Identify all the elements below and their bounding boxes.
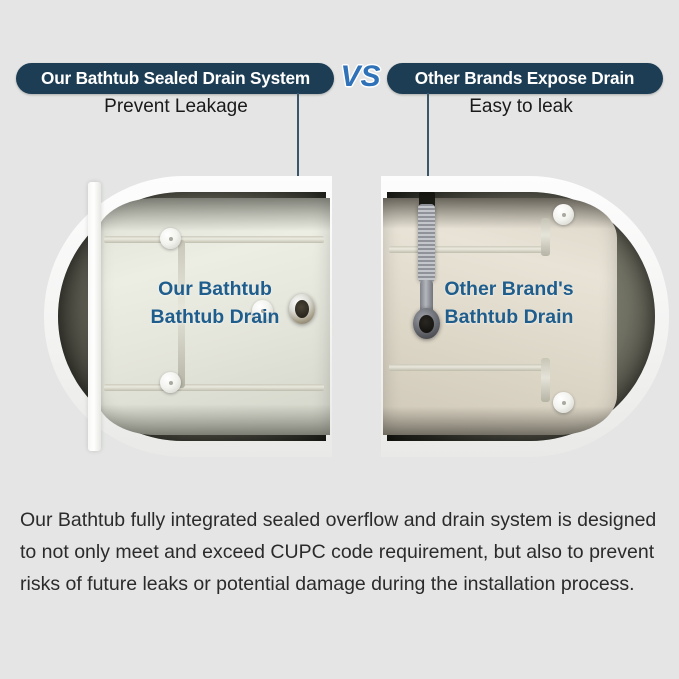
left-subtitle: Prevent Leakage — [60, 96, 292, 118]
pan-brace — [541, 218, 550, 256]
right-pill-label: Other Brands Expose Drain — [387, 63, 663, 94]
right-caption-line2: Bathtub Drain — [445, 306, 574, 328]
comparison-header: Our Bathtub Sealed Drain System VS Other… — [0, 58, 679, 98]
pan-rib — [104, 384, 324, 391]
infographic-page: Our Bathtub Sealed Drain System VS Other… — [0, 0, 679, 679]
left-caption-line2: Bathtub Drain — [151, 306, 280, 328]
exposed-drain-hose — [418, 204, 435, 282]
leveling-foot — [160, 372, 181, 393]
right-photo-caption: Other Brand's Bathtub Drain — [412, 276, 606, 331]
leveling-foot — [553, 204, 574, 225]
pan-rib — [389, 364, 547, 371]
leveling-foot — [160, 228, 181, 249]
pan-rib — [389, 246, 547, 253]
left-pill-label: Our Bathtub Sealed Drain System — [16, 63, 334, 94]
white-divider-strip — [88, 182, 101, 451]
leveling-foot — [553, 392, 574, 413]
left-photo-caption: Our Bathtub Bathtub Drain — [118, 276, 312, 331]
right-subtitle: Easy to leak — [405, 96, 637, 118]
pan-brace — [541, 358, 550, 402]
left-caption-line1: Our Bathtub — [158, 278, 272, 300]
right-caption-line1: Other Brand's — [444, 278, 573, 300]
vs-label: VS — [340, 62, 380, 94]
description-paragraph: Our Bathtub fully integrated sealed over… — [20, 505, 670, 600]
pan-rib — [104, 236, 324, 243]
